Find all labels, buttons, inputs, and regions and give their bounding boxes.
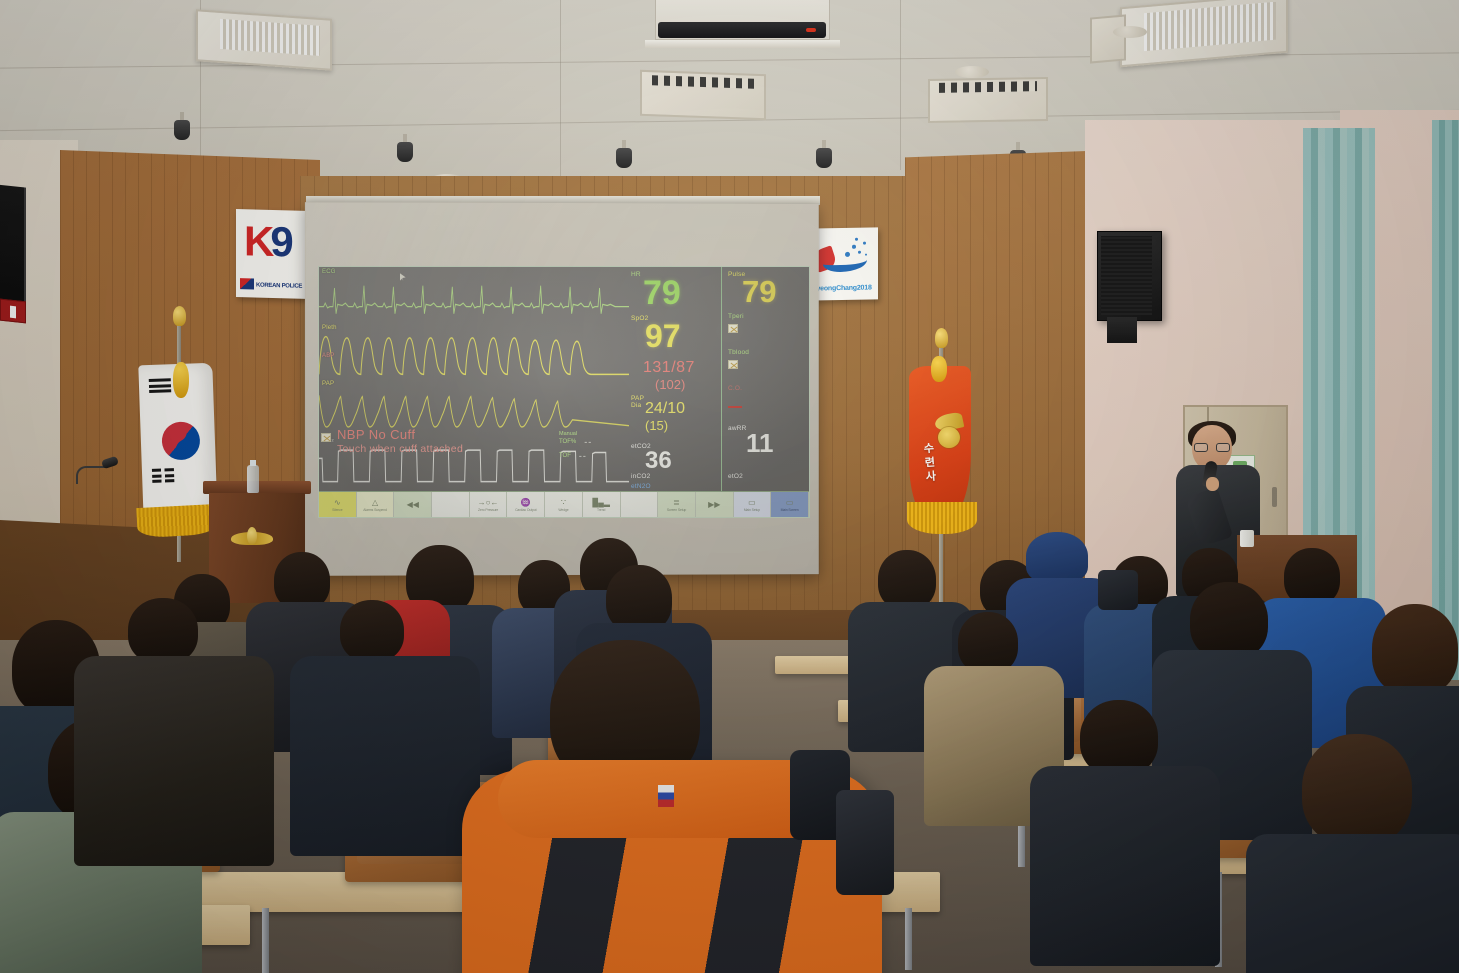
- rewind-icon: ◀◀: [407, 500, 419, 509]
- toolbar-label: Trend: [597, 508, 605, 512]
- flag-finial: [935, 328, 948, 348]
- toolbar-button-blank-2[interactable]: [621, 492, 659, 517]
- wall-speaker: [1097, 231, 1162, 321]
- ceiling-spotlight: [816, 140, 832, 168]
- flag-tassel: [931, 356, 947, 382]
- ecg-trace: [319, 267, 629, 323]
- lecture-hall-scene: K9 KOREAN POLICE PyeongChang2018: [0, 0, 1459, 973]
- ceiling-ac-vent: [928, 77, 1048, 123]
- toolbar-button-alarms-suspend[interactable]: △ Alarms Suspend: [357, 492, 395, 517]
- ceiling-ac-vent: [1090, 14, 1126, 63]
- co-unavailable-dash: [728, 406, 742, 408]
- co-label: C.O.: [728, 385, 742, 392]
- water-bottle: [247, 465, 259, 493]
- tperi-unavailable-icon: [728, 324, 738, 333]
- inco2-label: inCO2: [631, 473, 650, 480]
- awrr-value: 11: [746, 432, 774, 456]
- screen-setup-icon: ≣: [673, 498, 680, 507]
- door-handle[interactable]: [1272, 487, 1277, 507]
- vital-awrr: awRR 11: [728, 425, 774, 456]
- main-screen-icon: ▭: [786, 498, 794, 507]
- silence-icon: ∿: [334, 498, 341, 507]
- monitor-toolbar: ∿ Silence △ Alarms Suspend ◀◀ →○← Zero P…: [319, 491, 809, 517]
- vital-pulse: Pulse 79: [728, 271, 776, 307]
- toolbar-button-main-screen[interactable]: ▭ Main Screen: [771, 492, 809, 517]
- toolbar-label: Silence: [332, 508, 342, 512]
- toolbar-button-zero-pressure[interactable]: →○← Zero Pressure: [470, 492, 508, 517]
- ecg-waveform-row: ECG: [319, 267, 629, 323]
- alarm-suspend-icon: △: [372, 498, 378, 507]
- paper-cup: [1240, 530, 1254, 547]
- vital-spo2: SpO2 97: [631, 315, 681, 351]
- k9-letter-9: 9: [270, 218, 289, 266]
- nbp-alarm-line1: NBP No Cuff: [337, 427, 463, 442]
- tblood-label: Tblood: [728, 349, 749, 356]
- taeguk-symbol: [156, 415, 207, 466]
- etn2o-label: etN2O: [631, 483, 651, 490]
- pulse-value: 79: [742, 278, 776, 307]
- zero-pressure-icon: →○←: [478, 498, 499, 507]
- toolbar-label: Alarms Suspend: [363, 508, 386, 512]
- tof-percent-label: TOF%: [559, 439, 576, 445]
- k9-subtitle: KOREAN POLICE: [256, 283, 302, 290]
- k9-letter-k: K: [244, 217, 270, 265]
- jacket-flag-tag: [658, 785, 674, 807]
- toolbar-label: Main Screen: [781, 508, 799, 512]
- tof-value: --: [579, 451, 587, 461]
- abp-wave-label: ABP: [322, 353, 335, 359]
- wedge-icon: ∵: [561, 498, 566, 507]
- abp-mean: (102): [655, 377, 695, 392]
- flag-fringe: [907, 502, 977, 534]
- ceiling-projector: [655, 0, 830, 66]
- toolbar-button-main-setup[interactable]: ▭ Main Setup: [734, 492, 772, 517]
- police-unit-flag: 수련사: [903, 352, 981, 552]
- smoke-detector: [1113, 26, 1147, 38]
- pap-value: 24/10: [645, 400, 685, 418]
- toolbar-button-blank-1[interactable]: [432, 492, 470, 517]
- ceiling-light-panel: [196, 9, 332, 71]
- vital-co: C.O.: [728, 385, 742, 408]
- toolbar-button-silence[interactable]: ∿ Silence: [319, 492, 357, 517]
- toolbar-button-wedge[interactable]: ∵ Wedge: [545, 492, 583, 517]
- pap-mean: (15): [645, 418, 685, 433]
- banner-k9: K9 KOREAN POLICE: [236, 209, 310, 299]
- waveform-area: ECG Pleth ABP PAP: [319, 267, 629, 491]
- vital-eto2: etO2: [728, 473, 743, 480]
- ceiling-spotlight: [616, 140, 632, 168]
- gas-etn2o: etN2O: [631, 483, 651, 490]
- vital-abp: 131/87 (102): [643, 359, 695, 392]
- pyeongchang-logo-icon: [813, 242, 869, 277]
- pleth-trace: [319, 323, 629, 379]
- vital-tblood: Tblood: [728, 349, 749, 374]
- ceiling-spotlight: [397, 134, 413, 162]
- flag-tassel: [173, 362, 189, 398]
- tblood-unavailable-icon: [728, 360, 738, 369]
- fire-alarm-sign: [0, 299, 26, 324]
- presenter-hand: [1206, 477, 1219, 491]
- toolbar-label: Screen Setup: [667, 508, 686, 512]
- toolbar-button-screen-setup[interactable]: ≣ Screen Setup: [658, 492, 696, 517]
- patient-monitor-display: ECG Pleth ABP PAP: [318, 266, 810, 518]
- podium-police-crest-icon: [231, 527, 273, 553]
- toolbar-label: Zero Pressure: [478, 508, 498, 512]
- desk-leg: [905, 908, 912, 970]
- primary-vitals-column: HR 79 SpO2 97 131/87 (102) PAP Dia 24/: [629, 267, 721, 491]
- podium-microphone: [76, 452, 120, 486]
- backpack: [836, 790, 894, 895]
- etco2-value: 36: [645, 450, 672, 472]
- toolbar-button-next[interactable]: ▶▶: [696, 492, 734, 517]
- tof-label: TOF: [559, 453, 571, 459]
- hr-value: 79: [643, 278, 681, 309]
- toolbar-button-previous[interactable]: ◀◀: [394, 492, 432, 517]
- korea-flag-icon: [240, 278, 254, 289]
- vital-etco2: etCO2 36: [631, 443, 672, 472]
- glasses-icon: [1194, 443, 1230, 452]
- nbp-unavailable-icon: [321, 433, 331, 442]
- cardiac-output-icon: ♒: [521, 498, 531, 507]
- unit-flag-text: 수련사: [920, 441, 941, 484]
- toolbar-label: Wedge: [558, 508, 568, 512]
- vital-pap: PAP Dia 24/10 (15): [631, 395, 685, 433]
- toolbar-label: Cardiac Output: [515, 508, 536, 512]
- window-curtain: [1432, 120, 1459, 680]
- secondary-vitals-column: Pulse 79 Tperi Tblood C.O.: [721, 267, 809, 491]
- flag-finial: [173, 306, 186, 326]
- spo2-value: 97: [645, 322, 681, 351]
- toolbar-button-trend[interactable]: █▄▂ Trend: [583, 492, 621, 517]
- smoke-detector: [955, 66, 989, 78]
- main-setup-icon: ▭: [748, 498, 756, 507]
- toolbar-button-cardiac-output[interactable]: ♒ Cardiac Output: [507, 492, 545, 517]
- abp-value: 131/87: [643, 359, 695, 377]
- eto2-label: etO2: [728, 473, 743, 480]
- pyeongchang-year: 2018: [857, 284, 872, 291]
- nbp-alarm-line2: Touch when cuff attached: [337, 443, 463, 455]
- ceiling-ac-vent: [640, 70, 766, 120]
- bag: [1098, 570, 1138, 610]
- trend-icon: █▄▂: [592, 498, 610, 507]
- toolbar-label: Main Setup: [744, 508, 760, 512]
- desk-leg: [262, 908, 269, 973]
- vital-inco2: inCO2: [631, 473, 650, 480]
- ceiling-spotlight: [174, 112, 190, 140]
- nbp-alarm-message: NBP No Cuff Touch when cuff attached: [325, 427, 463, 455]
- tof-percent-value: --: [584, 437, 592, 447]
- vital-hr: HR 79: [631, 271, 681, 309]
- wall-monitor: [0, 184, 26, 309]
- tperi-label: Tperi: [728, 313, 744, 320]
- forward-icon: ▶▶: [708, 500, 720, 509]
- pleth-waveform-row: Pleth ABP: [319, 323, 629, 379]
- vital-tperi: Tperi: [728, 313, 744, 338]
